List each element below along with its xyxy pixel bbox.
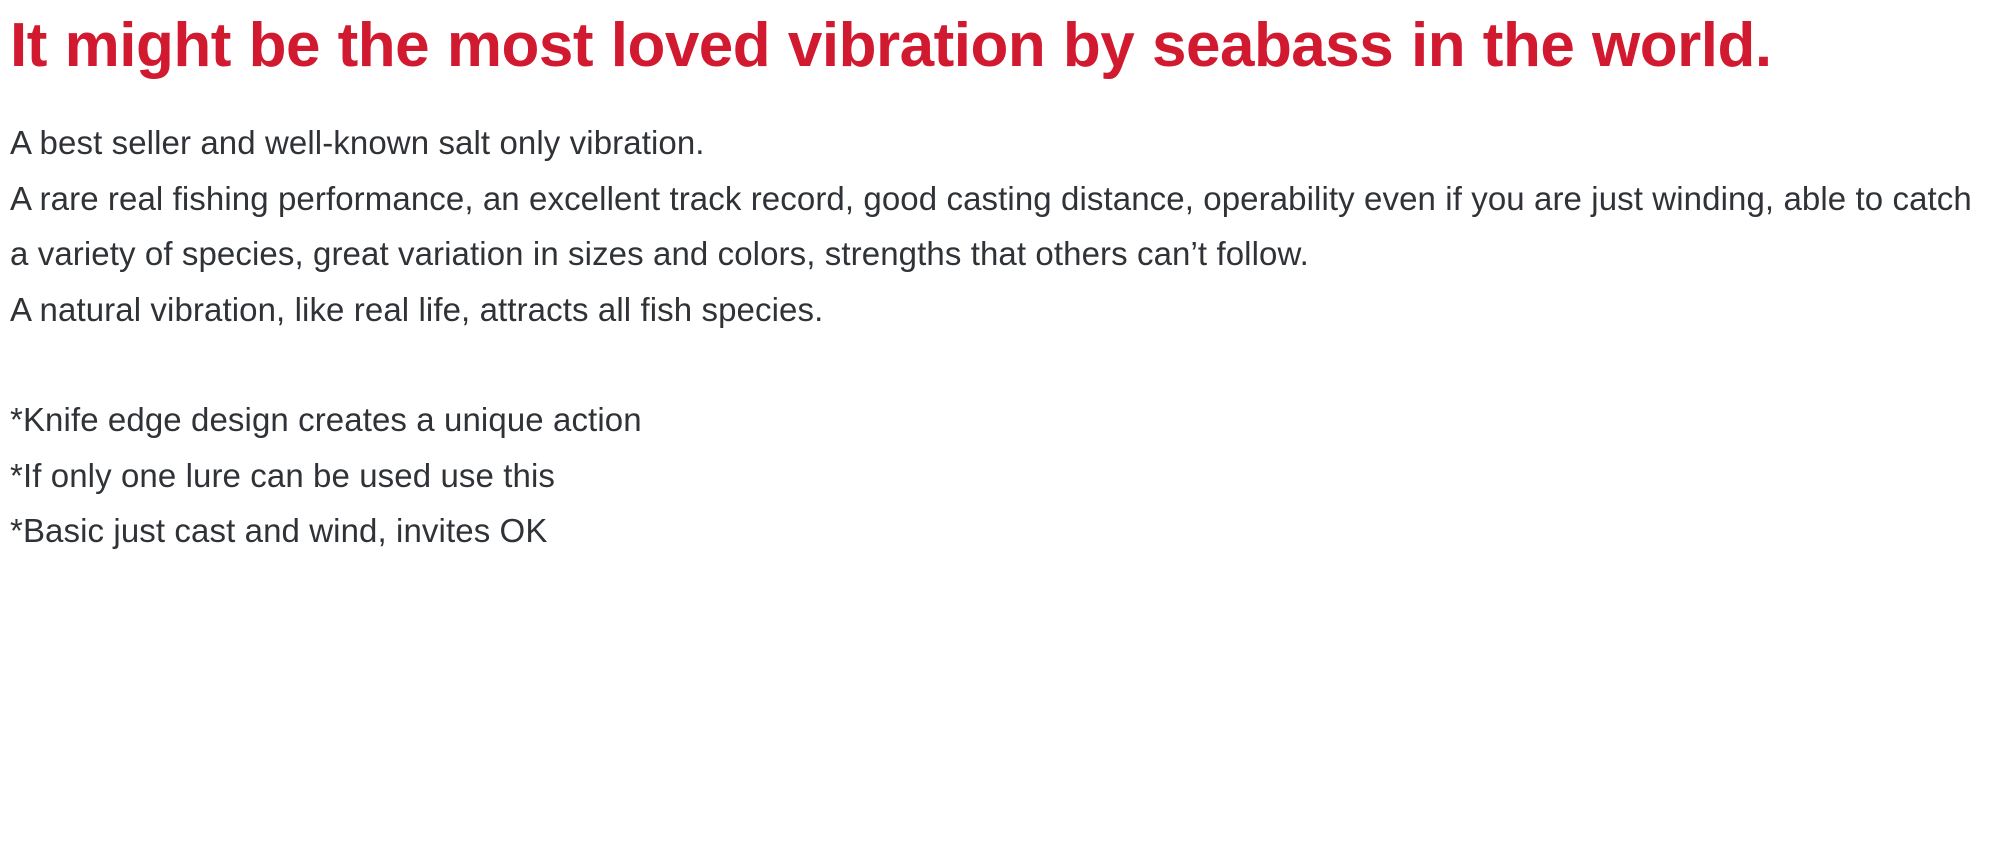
- page-title: It might be the most loved vibration by …: [10, 0, 1910, 85]
- description-paragraphs: A best seller and well-known salt only v…: [10, 115, 1990, 337]
- description-line-2: A rare real fishing performance, an exce…: [10, 171, 1990, 282]
- description-line-1: A best seller and well-known salt only v…: [10, 115, 1990, 170]
- feature-note-1: *Knife edge design creates a unique acti…: [10, 392, 1990, 447]
- feature-notes-list: *Knife edge design creates a unique acti…: [10, 392, 1990, 558]
- description-line-3: A natural vibration, like real life, att…: [10, 282, 1990, 337]
- product-description-page: It might be the most loved vibration by …: [0, 0, 2000, 865]
- paragraph-spacer: [10, 337, 1990, 392]
- feature-note-2: *If only one lure can be used use this: [10, 448, 1990, 503]
- feature-note-3: *Basic just cast and wind, invites OK: [10, 503, 1990, 558]
